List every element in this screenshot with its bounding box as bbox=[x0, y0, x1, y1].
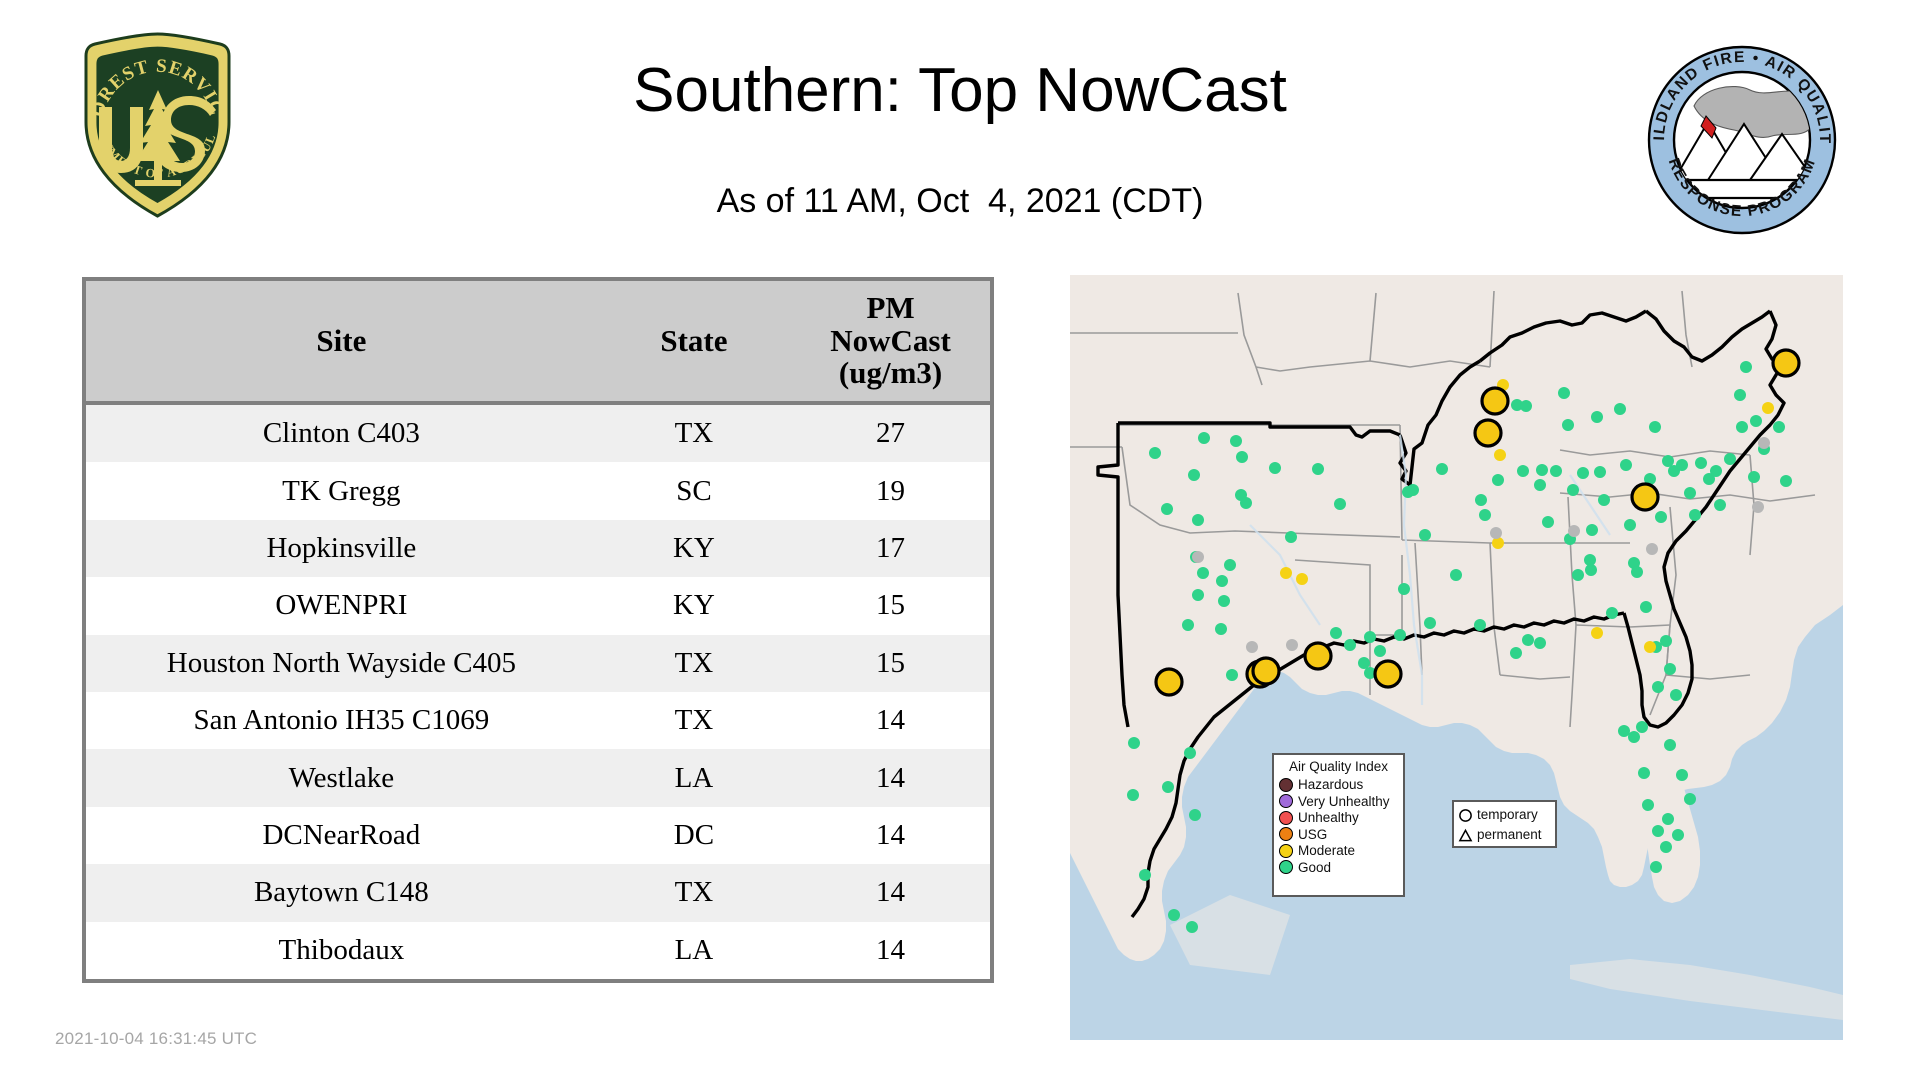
aqi-swatch-moderate-icon bbox=[1279, 844, 1293, 858]
top-site-marker-baytown bbox=[1253, 658, 1279, 684]
cell-site: San Antonio IH35 C1069 bbox=[86, 692, 597, 749]
top-site-marker-tk-gregg bbox=[1632, 484, 1658, 510]
cell-site: TK Gregg bbox=[86, 462, 597, 519]
cell-state: TX bbox=[597, 635, 791, 692]
aqi-legend-label: Hazardous bbox=[1298, 778, 1363, 792]
cell-site: Baytown C148 bbox=[86, 864, 597, 921]
top-nowcast-table: Site State PM NowCast (ug/m3) Clinton C4… bbox=[82, 277, 994, 983]
column-header-site-label: Site bbox=[90, 325, 593, 358]
generated-timestamp: 2021-10-04 16:31:45 UTC bbox=[55, 1029, 257, 1049]
cell-state: TX bbox=[597, 403, 791, 462]
table-row: TK Gregg SC 19 bbox=[86, 462, 990, 519]
air-quality-monitor-map[interactable] bbox=[1070, 275, 1843, 1040]
aqi-legend-label: Unhealthy bbox=[1298, 811, 1359, 825]
symbol-legend-label: permanent bbox=[1477, 828, 1542, 842]
aqi-legend-label: Moderate bbox=[1298, 844, 1355, 858]
cell-state: TX bbox=[597, 692, 791, 749]
aqi-legend-item-hazardous: Hazardous bbox=[1279, 777, 1398, 794]
cell-state: TX bbox=[597, 864, 791, 921]
triangle-icon bbox=[1458, 828, 1473, 843]
table-row: San Antonio IH35 C1069 TX 14 bbox=[86, 692, 990, 749]
cell-state: KY bbox=[597, 520, 791, 577]
table-row: Westlake LA 14 bbox=[86, 749, 990, 806]
cell-state: LA bbox=[597, 749, 791, 806]
cell-pm: 14 bbox=[791, 922, 990, 979]
aqi-legend-item-unhealthy: Unhealthy bbox=[1279, 810, 1398, 827]
symbol-legend-label: temporary bbox=[1477, 808, 1538, 822]
column-header-pm-nowcast: PM NowCast (ug/m3) bbox=[791, 281, 990, 403]
page-title: Southern: Top NowCast bbox=[310, 58, 1610, 123]
column-header-pm-nowcast-label: PM NowCast (ug/m3) bbox=[795, 292, 986, 391]
top-site-marker-hopkinsville bbox=[1482, 388, 1508, 414]
cell-pm: 14 bbox=[791, 692, 990, 749]
top-site-marker-clinton bbox=[1305, 643, 1331, 669]
cell-pm: 14 bbox=[791, 864, 990, 921]
column-header-state: State bbox=[597, 281, 791, 403]
cell-pm: 14 bbox=[791, 807, 990, 864]
aqi-legend-item-moderate: Moderate bbox=[1279, 843, 1398, 860]
column-header-site: Site bbox=[86, 281, 597, 403]
aqi-swatch-unhealthy-icon bbox=[1279, 811, 1293, 825]
cell-state: LA bbox=[597, 922, 791, 979]
cell-pm: 14 bbox=[791, 749, 990, 806]
table-row: Clinton C403 TX 27 bbox=[86, 403, 990, 462]
slide-root: FOREST SERVICE DEPARTMENT OF AGRICULTURE bbox=[0, 0, 1920, 1080]
cell-site: Clinton C403 bbox=[86, 403, 597, 462]
symbol-legend-item-permanent: permanent bbox=[1458, 825, 1551, 845]
page-subtitle: As of 11 AM, Oct 4, 2021 (CDT) bbox=[310, 182, 1610, 221]
table-row: Baytown C148 TX 14 bbox=[86, 864, 990, 921]
cell-site: Westlake bbox=[86, 749, 597, 806]
aqi-legend-item-usg: USG bbox=[1279, 826, 1398, 843]
table-row: OWENPRI KY 15 bbox=[86, 577, 990, 634]
aqi-legend-item-very-unhealthy: Very Unhealthy bbox=[1279, 793, 1398, 810]
cell-site: DCNearRoad bbox=[86, 807, 597, 864]
monitor-type-legend: temporary permanent bbox=[1452, 800, 1557, 848]
aqi-swatch-good-icon bbox=[1279, 860, 1293, 874]
table-row: Houston North Wayside C405 TX 15 bbox=[86, 635, 990, 692]
cell-state: DC bbox=[597, 807, 791, 864]
aqi-legend-title: Air Quality Index bbox=[1279, 759, 1398, 775]
cell-pm: 15 bbox=[791, 635, 990, 692]
circle-icon bbox=[1458, 808, 1473, 823]
table-header-row: Site State PM NowCast (ug/m3) bbox=[86, 281, 990, 403]
aqi-swatch-usg-icon bbox=[1279, 827, 1293, 841]
cell-pm: 17 bbox=[791, 520, 990, 577]
cell-site: Houston North Wayside C405 bbox=[86, 635, 597, 692]
usda-forest-service-shield-logo: FOREST SERVICE DEPARTMENT OF AGRICULTURE bbox=[55, 30, 260, 220]
top-site-marker-dcnearroad bbox=[1773, 350, 1799, 376]
aqi-legend-item-good: Good bbox=[1279, 859, 1398, 876]
table-row: DCNearRoad DC 14 bbox=[86, 807, 990, 864]
aqi-legend-label: Very Unhealthy bbox=[1298, 795, 1390, 809]
cell-site: Hopkinsville bbox=[86, 520, 597, 577]
symbol-legend-item-temporary: temporary bbox=[1458, 805, 1551, 825]
cell-site: Thibodaux bbox=[86, 922, 597, 979]
cell-pm: 27 bbox=[791, 403, 990, 462]
cell-site: OWENPRI bbox=[86, 577, 597, 634]
cell-state: SC bbox=[597, 462, 791, 519]
wildland-fire-air-quality-response-program-logo: WILDLAND FIRE • AIR QUALITY RESPONSE PRO… bbox=[1642, 40, 1842, 225]
column-header-state-label: State bbox=[601, 325, 787, 358]
cell-pm: 19 bbox=[791, 462, 990, 519]
cell-state: KY bbox=[597, 577, 791, 634]
top-site-marker-thibodaux bbox=[1375, 661, 1401, 687]
aqi-legend-label: Good bbox=[1298, 861, 1331, 875]
aqi-swatch-very-unhealthy-icon bbox=[1279, 794, 1293, 808]
table-row: Hopkinsville KY 17 bbox=[86, 520, 990, 577]
aqi-swatch-hazardous-icon bbox=[1279, 778, 1293, 792]
top-site-marker-owenpri bbox=[1475, 420, 1501, 446]
top-site-marker-san-antonio bbox=[1156, 669, 1182, 695]
cell-pm: 15 bbox=[791, 577, 990, 634]
table-row: Thibodaux LA 14 bbox=[86, 922, 990, 979]
aqi-legend-label: USG bbox=[1298, 828, 1327, 842]
air-quality-index-legend: Air Quality Index Hazardous Very Unhealt… bbox=[1272, 753, 1405, 897]
